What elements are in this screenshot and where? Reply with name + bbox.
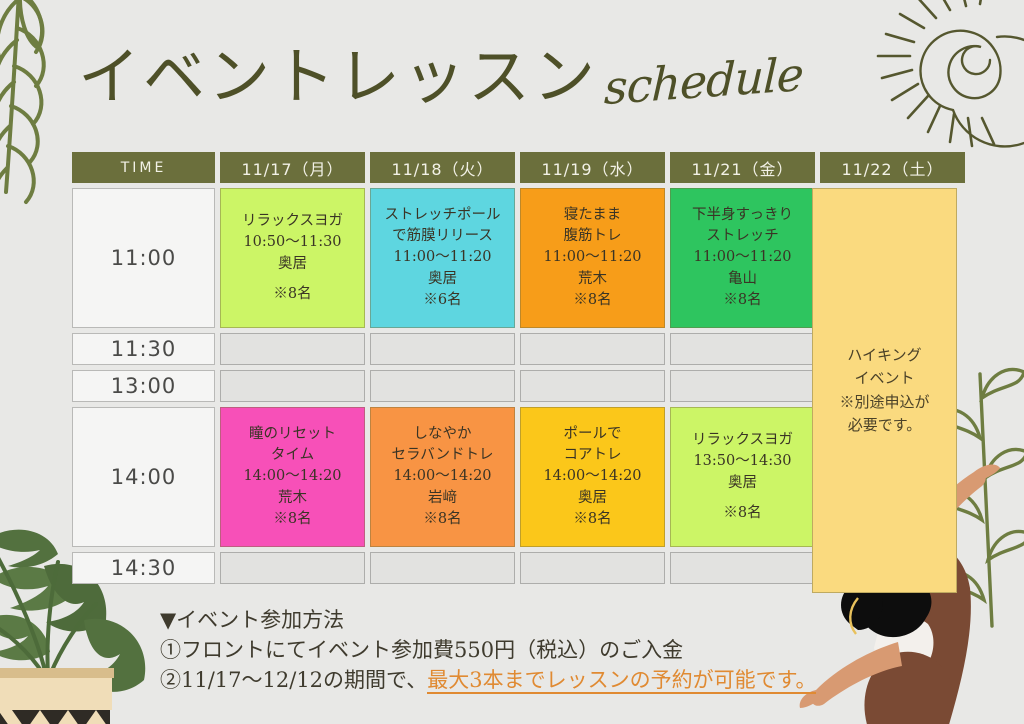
lesson-instructor: 奥居 (428, 269, 457, 290)
lesson-capacity: ※8名 (423, 509, 461, 530)
event-line1: ハイキング (847, 344, 921, 367)
lesson-instructor: 奥居 (728, 473, 757, 494)
empty-cell-fri-1300[interactable] (670, 370, 815, 402)
lesson-time: 14:00〜14:20 (243, 466, 341, 487)
lesson-name-line2: で筋膜リリース (392, 226, 493, 247)
event-line3: ※別途申込が (839, 391, 929, 414)
lesson-instructor: 荒木 (278, 488, 307, 509)
lesson-instructor: 岩﨑 (428, 488, 457, 509)
empty-cell-tue-1300[interactable] (370, 370, 515, 402)
lesson-instructor: 奥居 (578, 488, 607, 509)
lesson-time: 11:00〜11:20 (393, 247, 491, 268)
empty-cell-wed-1430[interactable] (520, 552, 665, 584)
lesson-instructor: 奥居 (278, 254, 307, 275)
column-header-time: TIME (72, 152, 215, 183)
sun-spiral-decoration-icon (840, 0, 1024, 156)
lesson-name-line2: ストレッチ (706, 226, 779, 247)
lesson-name-line1: しなやか (414, 424, 472, 445)
lesson-name-line2: タイム (271, 445, 314, 466)
event-line4: 必要です。 (848, 414, 922, 437)
lesson-capacity: ※8名 (573, 290, 611, 311)
lesson-cell-mon-1100[interactable]: リラックスヨガ 10:50〜11:30 奥居 ※8名 (220, 188, 365, 328)
lesson-name-line1: 寝たまま (564, 205, 622, 226)
instructions-item-2-prefix: ②11/17〜12/12の期間で、 (160, 668, 427, 692)
empty-cell-fri-1130[interactable] (670, 333, 815, 365)
instructions-item-2: ②11/17〜12/12の期間で、最大3本までレッスンの予約が可能です。 (160, 666, 816, 696)
lesson-cell-fri-1100[interactable]: 下半身すっきり ストレッチ 11:00〜11:20 亀山 ※8名 (670, 188, 815, 328)
time-label-1300: 13:00 (72, 370, 215, 402)
empty-cell-mon-1300[interactable] (220, 370, 365, 402)
time-label-1400: 14:00 (72, 407, 215, 547)
column-header-wed: 11/19（水） (520, 152, 665, 183)
empty-cell-mon-1430[interactable] (220, 552, 365, 584)
lesson-name-line2: コアトレ (564, 445, 622, 466)
lesson-capacity: ※8名 (723, 503, 761, 524)
column-header-mon: 11/17（月） (220, 152, 365, 183)
saturday-hiking-event-cell[interactable]: ハイキング イベント ※別途申込が 必要です。 (812, 188, 957, 593)
column-header-tue: 11/18（火） (370, 152, 515, 183)
lesson-time: 14:00〜14:20 (393, 466, 491, 487)
instructions-heading: ▼イベント参加方法 (160, 606, 816, 636)
lesson-capacity: ※8名 (273, 509, 311, 530)
poster-canvas: イベントレッスン schedule TIME 11/17（月） 11/18（火）… (0, 0, 1024, 724)
page-title: イベントレッスン schedule (78, 46, 803, 108)
instructions-item-2-highlight: 最大3本までレッスンの予約が可能です。 (427, 668, 816, 694)
lesson-capacity: ※8名 (723, 290, 761, 311)
lesson-name-line2: 腹筋トレ (564, 226, 622, 247)
empty-cell-tue-1430[interactable] (370, 552, 515, 584)
lesson-cell-wed-1100[interactable]: 寝たまま 腹筋トレ 11:00〜11:20 荒木 ※8名 (520, 188, 665, 328)
time-label-1100: 11:00 (72, 188, 215, 328)
title-script-text: schedule (603, 51, 803, 111)
instructions-item-1: ①フロントにてイベント参加費550円（税込）のご入金 (160, 636, 816, 666)
lesson-time: 14:00〜14:20 (543, 466, 641, 487)
empty-cell-wed-1130[interactable] (520, 333, 665, 365)
lesson-time: 13:50〜14:30 (693, 451, 791, 472)
table-header-row: TIME 11/17（月） 11/18（火） 11/19（水） 11/21（金）… (72, 152, 956, 183)
lesson-name-line1: ポールで (564, 424, 622, 445)
lesson-instructor: 亀山 (728, 269, 757, 290)
lesson-instructor: 荒木 (578, 269, 607, 290)
lesson-name-line1: ストレッチポール (385, 205, 501, 226)
time-label-1430: 14:30 (72, 552, 215, 584)
lesson-time: 11:00〜11:20 (693, 247, 791, 268)
time-label-1130: 11:30 (72, 333, 215, 365)
lesson-capacity: ※8名 (273, 284, 311, 305)
lesson-cell-tue-1400[interactable]: しなやか セラバンドトレ 14:00〜14:20 岩﨑 ※8名 (370, 407, 515, 547)
lesson-time: 11:00〜11:20 (543, 247, 641, 268)
participation-instructions: ▼イベント参加方法 ①フロントにてイベント参加費550円（税込）のご入金 ②11… (160, 606, 816, 695)
lesson-cell-fri-1400[interactable]: リラックスヨガ 13:50〜14:30 奥居 ※8名 (670, 407, 815, 547)
title-main-text: イベントレッスン (78, 46, 598, 108)
lesson-name: リラックスヨガ (692, 430, 793, 451)
event-line2: イベント (854, 367, 914, 390)
empty-cell-wed-1300[interactable] (520, 370, 665, 402)
lesson-name: リラックスヨガ (242, 211, 343, 232)
column-header-fri: 11/21（金） (670, 152, 815, 183)
lesson-capacity: ※6名 (423, 290, 461, 311)
empty-cell-fri-1430[interactable] (670, 552, 815, 584)
column-header-sat: 11/22（土） (820, 152, 965, 183)
empty-cell-tue-1130[interactable] (370, 333, 515, 365)
lesson-name-line1: 下半身すっきり (692, 205, 793, 226)
lesson-time: 10:50〜11:30 (243, 232, 341, 253)
empty-cell-mon-1130[interactable] (220, 333, 365, 365)
lesson-name-line1: 瞳のリセット (249, 424, 336, 445)
lesson-cell-wed-1400[interactable]: ポールで コアトレ 14:00〜14:20 奥居 ※8名 (520, 407, 665, 547)
lesson-cell-mon-1400[interactable]: 瞳のリセット タイム 14:00〜14:20 荒木 ※8名 (220, 407, 365, 547)
lesson-capacity: ※8名 (573, 509, 611, 530)
lesson-name-line2: セラバンドトレ (391, 445, 493, 466)
lesson-cell-tue-1100[interactable]: ストレッチポール で筋膜リリース 11:00〜11:20 奥居 ※6名 (370, 188, 515, 328)
